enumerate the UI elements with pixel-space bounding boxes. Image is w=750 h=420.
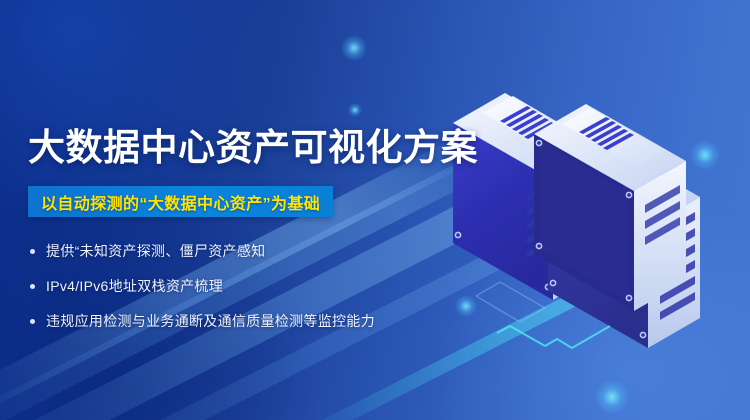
- list-item: 提供“未知资产探测、僵尸资产感知: [30, 238, 430, 264]
- page-title: 大数据中心资产可视化方案: [28, 126, 478, 170]
- subtitle-banner: 以自动探测的“大数据中心资产”为基础: [28, 186, 333, 217]
- subtitle-text: 以自动探测的“大数据中心资产”为基础: [41, 190, 320, 214]
- list-item-label: IPv4/IPv6地址双栈资产梳理: [46, 276, 223, 296]
- list-item: 违规应用检测与业务通断及通信质量检测等监控能力: [30, 308, 430, 334]
- list-item: IPv4/IPv6地址双栈资产梳理: [30, 273, 430, 299]
- list-item-label: 提供“未知资产探测、僵尸资产感知: [46, 241, 265, 261]
- circuit-trace: [497, 326, 610, 348]
- bullet-dot-icon: [30, 284, 35, 289]
- marketing-banner: 大数据中心资产可视化方案 以自动探测的“大数据中心资产”为基础 提供“未知资产探…: [0, 0, 750, 420]
- bullet-dot-icon: [30, 319, 35, 324]
- bullet-dot-icon: [30, 249, 35, 254]
- list-item-label: 违规应用检测与业务通断及通信质量检测等监控能力: [46, 311, 375, 331]
- feature-list: 提供“未知资产探测、僵尸资产感知 IPv4/IPv6地址双栈资产梳理 违规应用检…: [30, 238, 430, 343]
